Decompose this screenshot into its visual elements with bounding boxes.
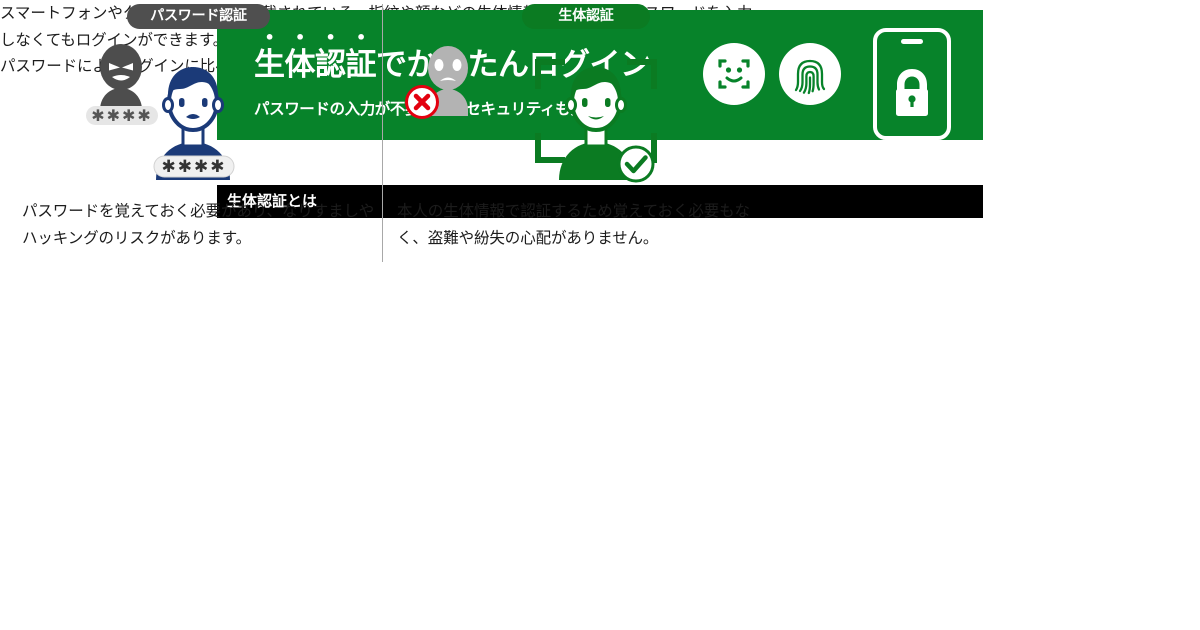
deny-badge-icon: [407, 87, 438, 118]
page-root: 生体認証でかんたんログイン パスワードの入力が不要なのでセキュリティも安心: [0, 0, 1200, 630]
svg-text:✱✱✱✱: ✱✱✱✱: [162, 157, 227, 177]
smartphone-lock-icon: [873, 28, 951, 140]
hacker-password-chip: ✱✱✱✱: [86, 106, 158, 125]
user-password-chip: ✱✱✱✱: [154, 156, 234, 177]
approve-badge-icon: [619, 147, 653, 181]
svg-text:✱✱✱✱: ✱✱✱✱: [91, 106, 153, 125]
password-auth-badge: パスワード認証: [127, 4, 270, 29]
biometric-auth-badge: 生体認証: [522, 4, 650, 29]
password-auth-illustration: ✱✱✱✱: [8, 40, 378, 188]
password-auth-caption: パスワードを覚えておく必要があり、なりすましやハッキングのリスクがあります。: [22, 198, 388, 251]
fingerprint-icon: [779, 43, 841, 105]
biometric-auth-column: 生体認証: [396, 0, 766, 262]
biometric-auth-illustration: [396, 40, 766, 188]
biometric-auth-caption: 本人の生体情報で認証するため覚えておく必要もなく、盗難や紛失の心配がありません。: [397, 198, 769, 251]
password-auth-column: パスワード認証 ✱✱✱: [8, 0, 378, 262]
